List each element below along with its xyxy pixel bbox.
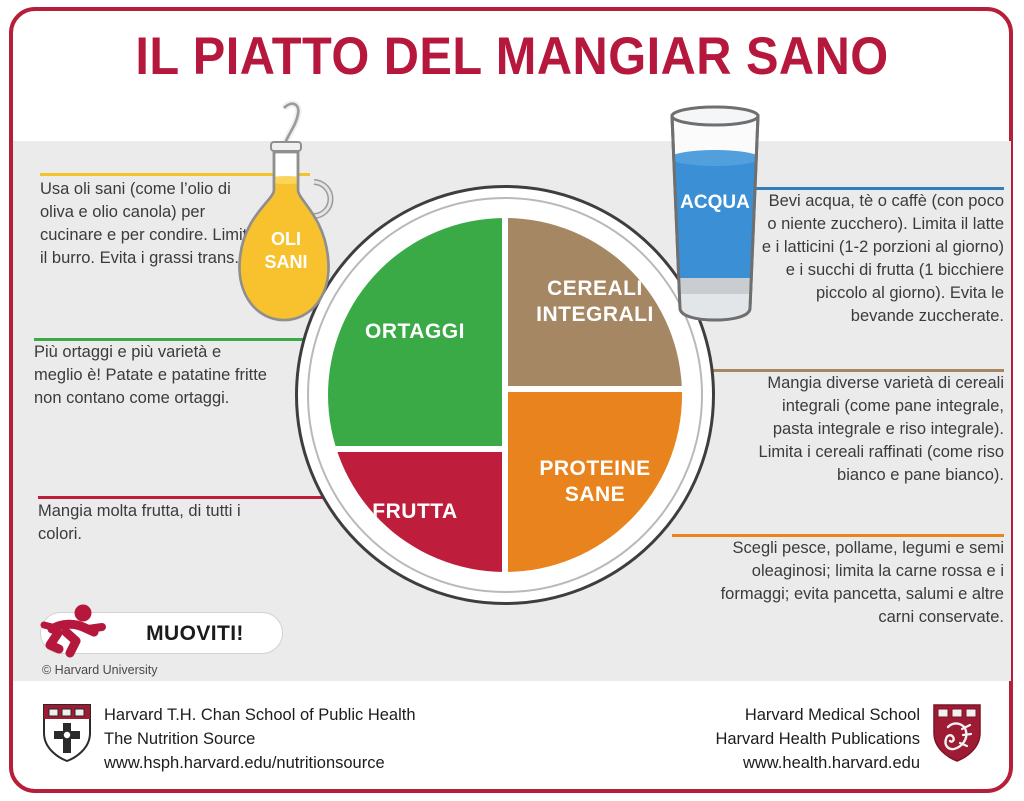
plate-section-grains-label: CEREALIINTEGRALI [536, 276, 654, 328]
page-title: IL PIATTO DEL MANGIAR SANO [41, 26, 983, 87]
plate-section-vegetables-label: ORTAGGI [365, 319, 465, 345]
plate-section-fruit[interactable]: FRUTTA [328, 452, 502, 572]
callout-water-text: Bevi acqua, tè o caffè (con poco o nient… [756, 190, 1004, 328]
footer-hsph-text: Harvard T.H. Chan School of Public Healt… [104, 703, 416, 775]
footer-hsph-line2: The Nutrition Source [104, 727, 416, 751]
callout-water: Bevi acqua, tè o caffè (con poco o nient… [756, 190, 1004, 328]
footer-hms-line3[interactable]: www.health.harvard.edu [715, 751, 920, 775]
water-glass-svg [650, 102, 780, 324]
callout-fruit-text: Mangia molta frutta, di tutti i colori. [38, 500, 270, 546]
callout-protein: Scegli pesce, pollame, legumi e semi ole… [707, 537, 1004, 629]
healthy-eating-plate-poster: IL PIATTO DEL MANGIAR SANO Usa oli sani … [0, 0, 1024, 801]
plate-section-vegetables[interactable]: ORTAGGI [328, 218, 502, 446]
plate-section-protein[interactable]: PROTEINESANE [508, 392, 682, 572]
plate-sections: ORTAGGI FRUTTA CEREALIINTEGRALI PROTEINE… [328, 218, 682, 572]
water-glass-icon: ACQUA [650, 102, 780, 324]
footer-hsph-line1: Harvard T.H. Chan School of Public Healt… [104, 703, 416, 727]
callout-grains-text: Mangia diverse varietà di cereali integr… [754, 372, 1004, 487]
connector-fruit [38, 496, 328, 499]
callout-protein-text: Scegli pesce, pollame, legumi e semi ole… [707, 537, 1004, 629]
callout-vegetables: Più ortaggi e più varietà e meglio è! Pa… [34, 341, 268, 410]
footer-hsph: Harvard T.H. Chan School of Public Healt… [42, 703, 416, 775]
harvard-veritas-shield-icon [932, 703, 982, 763]
move-button-label: MUOVITI! [111, 613, 279, 655]
footer-hms-line2: Harvard Health Publications [715, 727, 920, 751]
move-button[interactable]: MUOVITI! [40, 612, 283, 654]
footer-hsph-line3[interactable]: www.hsph.harvard.edu/nutritionsource [104, 751, 416, 775]
callout-vegetables-text: Più ortaggi e più varietà e meglio è! Pa… [34, 341, 268, 410]
harvard-shield-icon [42, 703, 92, 763]
plate-section-fruit-label: FRUTTA [372, 499, 457, 525]
footer-hms-text: Harvard Medical School Harvard Health Pu… [715, 703, 920, 775]
footer-hms-line1: Harvard Medical School [715, 703, 920, 727]
callout-fruit: Mangia molta frutta, di tutti i colori. [38, 500, 270, 546]
footer-hms: Harvard Medical School Harvard Health Pu… [715, 703, 982, 775]
copyright-text: © Harvard University [42, 663, 158, 677]
oil-cruet-svg [222, 98, 350, 328]
callout-grains: Mangia diverse varietà di cereali integr… [754, 372, 1004, 487]
oil-cruet-icon: OLISANI [222, 98, 350, 328]
running-figure-icon [36, 599, 112, 667]
plate-section-protein-label: PROTEINESANE [539, 456, 650, 508]
